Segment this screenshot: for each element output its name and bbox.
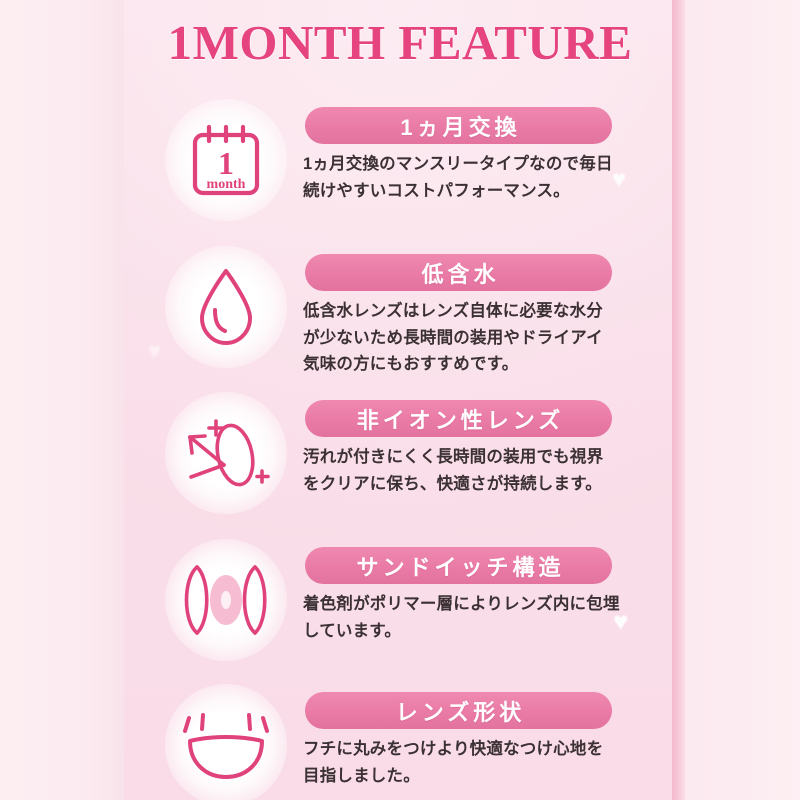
feature-heading-sandwich: サンドイッチ構造 (305, 547, 612, 584)
page-right-accent-band (672, 0, 685, 800)
feature-body-low-water: 低含水レンズはレンズ自体に必要な水分 が少ないため長時間の装用やドライアイ 気味… (303, 298, 633, 378)
feature-body-lens-shape: フチに丸みをつけより快適なつけ心地を 目指しました。 (303, 736, 633, 789)
water-drop-icon (171, 252, 281, 362)
non-ionic-lens-icon (171, 398, 281, 508)
feature-heading-low-water: 低含水 (305, 254, 612, 291)
feature-heading-1month: 1ヵ月交換 (305, 107, 612, 144)
sandwich-structure-icon (171, 545, 281, 655)
svg-text:1: 1 (218, 145, 234, 181)
feature-heading-lens-shape: レンズ形状 (305, 692, 612, 729)
feature-body-sandwich: 着色剤がポリマー層によりレンズ内に包埋 しています。 (303, 591, 633, 644)
feature-body-1month: 1ヵ月交換のマンスリータイプなので毎日 続けやすいコストパフォーマンス。 (303, 151, 633, 204)
page-right-margin (672, 0, 800, 800)
page-title: 1MONTH FEATURE (0, 14, 800, 71)
feature-body-non-ionic: 汚れが付きにくく長時間の装用でも視界 をクリアに保ち、快適さが持続します。 (303, 444, 633, 497)
lens-shape-icon (171, 690, 281, 800)
feature-page: 1MONTH FEATURE ♥ ♥ ♥ 1 month 1ヵ月交換 1ヵ月交換… (0, 0, 800, 800)
heart-decoration-mid-left: ♥ (148, 340, 161, 362)
svg-text:month: month (207, 177, 246, 192)
page-left-margin (0, 0, 124, 800)
calendar-1month-icon: 1 month (171, 105, 281, 215)
feature-heading-non-ionic: 非イオン性レンズ (305, 400, 612, 437)
